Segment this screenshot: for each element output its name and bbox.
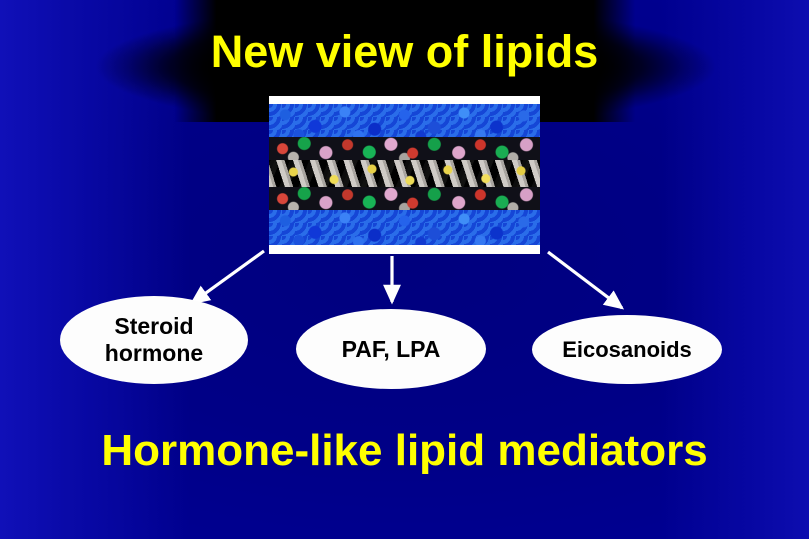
node-eicosanoids-label: Eicosanoids xyxy=(562,337,692,363)
node-steroid-hormone[interactable]: Steroid hormone xyxy=(60,296,248,384)
node-steroid-hormone-label: Steroid hormone xyxy=(105,313,203,366)
arrow-to-steroid-icon xyxy=(192,251,264,303)
arrow-to-eicosanoids-icon xyxy=(548,252,622,308)
node-eicosanoids[interactable]: Eicosanoids xyxy=(532,315,722,384)
slide-footer: Hormone-like lipid mediators xyxy=(0,426,809,476)
node-paf-lpa-label: PAF, LPA xyxy=(342,336,441,363)
node-steroid-hormone-line2: hormone xyxy=(105,340,203,366)
node-paf-lpa[interactable]: PAF, LPA xyxy=(296,309,486,389)
slide-canvas: New view of lipids Steroid hormone PA xyxy=(0,0,809,539)
node-steroid-hormone-line1: Steroid xyxy=(114,313,193,339)
